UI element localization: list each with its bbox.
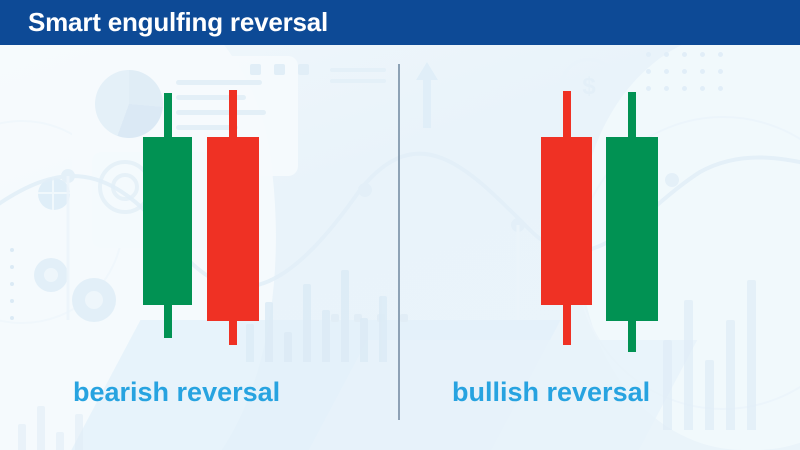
candle-body (207, 137, 259, 321)
candle-body (541, 137, 592, 305)
candle-body (143, 137, 192, 305)
line-chart-icon (0, 150, 800, 320)
background-text-line (176, 80, 262, 85)
header-banner: Smart engulfing reversal (0, 0, 800, 45)
candle-body (606, 137, 658, 321)
background-text-lines (330, 68, 386, 83)
dot-grid-icon (646, 52, 736, 103)
caption-bullish-reversal: bullish reversal (452, 377, 650, 408)
candle-bullish-1 (541, 91, 592, 345)
vertical-divider (398, 64, 400, 420)
candle-bearish-1 (143, 93, 192, 338)
candle-bullish-2 (606, 92, 658, 352)
background-toolbar-squares (250, 64, 309, 75)
up-arrow-icon (416, 62, 438, 128)
candle-bearish-2 (207, 90, 259, 345)
caption-bearish-reversal: bearish reversal (73, 377, 280, 408)
page-title: Smart engulfing reversal (28, 7, 328, 38)
infographic-canvas: $ Smart engulfing reversal bearish rever… (0, 0, 800, 450)
